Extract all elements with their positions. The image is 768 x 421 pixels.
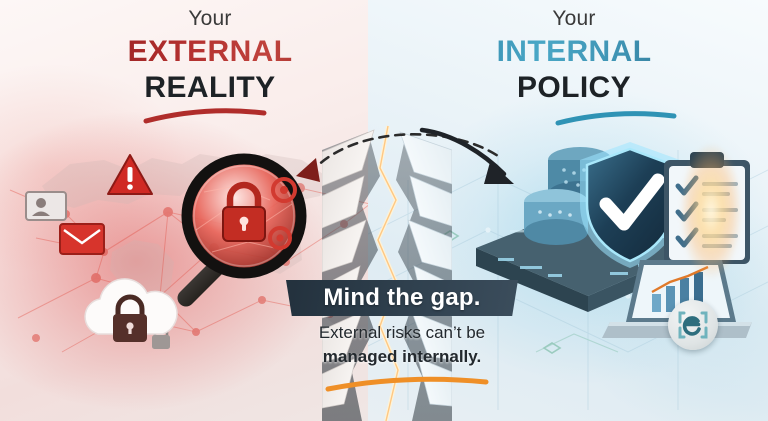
warning-triangle-icon	[105, 152, 155, 198]
banner-text: Mind the gap.	[286, 284, 518, 312]
subtitle-line-1: External risks can’t be	[286, 316, 518, 345]
reality-word: REALITY	[60, 70, 360, 106]
logo-e-icon: e	[668, 300, 718, 350]
external-heading-block: Your EXTERNAL REALITY	[60, 6, 360, 106]
dashed-arc-arrow-right	[418, 122, 548, 192]
envelope-threat-icon	[58, 222, 106, 256]
red-swoosh-underline	[140, 106, 270, 126]
internal-word: INTERNAL	[424, 34, 724, 70]
external-kicker: Your	[60, 6, 360, 32]
teal-swoosh-underline	[552, 108, 682, 128]
subtitle-line-2: managed internally.	[286, 345, 518, 369]
crack-glow	[674, 120, 748, 310]
mind-the-gap-banner: Mind the gap.	[286, 280, 518, 316]
user-profile-icon	[24, 190, 68, 222]
orange-swoosh-underline	[322, 376, 492, 394]
policy-word: POLICY	[424, 70, 724, 106]
internal-kicker: Your	[424, 6, 724, 32]
internal-heading-block: Your INTERNAL POLICY	[424, 6, 724, 106]
external-word: EXTERNAL	[60, 34, 360, 70]
infographic-canvas: Your EXTERNAL REALITY Your INTERNAL POLI…	[0, 0, 768, 421]
caption-block: Mind the gap. External risks can’t be ma…	[286, 280, 518, 369]
brand-logo-e[interactable]: e	[668, 300, 718, 350]
